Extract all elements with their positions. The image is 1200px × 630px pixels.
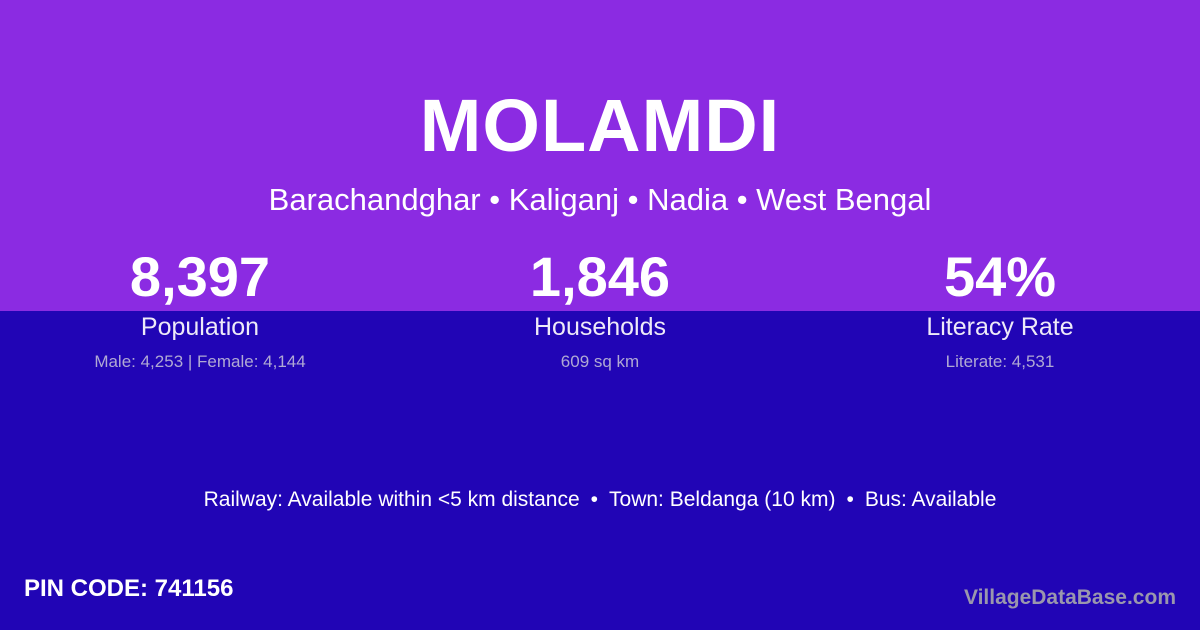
page-title: MOLAMDI	[0, 82, 1200, 170]
stat-value: 8,397	[0, 244, 400, 310]
brand-watermark: VillageDataBase.com	[964, 584, 1176, 612]
amenity-railway: Railway: Available within <5 km distance	[204, 488, 580, 511]
card-footer: PIN CODE: 741156 VillageDataBase.com	[0, 558, 1200, 630]
amenity-separator: •	[835, 485, 864, 515]
amenity-town: Town: Beldanga (10 km)	[609, 488, 835, 511]
breadcrumb: Barachandghar • Kaliganj • Nadia • West …	[0, 180, 1200, 220]
stat-value: 1,846	[400, 244, 800, 310]
pin-code: PIN CODE: 741156	[24, 574, 233, 604]
amenity-separator: •	[580, 485, 609, 515]
amenities-row: Railway: Available within <5 km distance…	[0, 485, 1200, 515]
stat-detail: Literate: 4,531	[800, 351, 1200, 373]
stat-label: Households	[400, 312, 800, 343]
stat-label: Literacy Rate	[800, 312, 1200, 343]
stat-literacy-rate: 54% Literacy Rate Literate: 4,531	[800, 244, 1200, 373]
stat-detail: Male: 4,253 | Female: 4,144	[0, 351, 400, 373]
stat-label: Population	[0, 312, 400, 343]
stat-households: 1,846 Households 609 sq km	[400, 244, 800, 373]
stat-population: 8,397 Population Male: 4,253 | Female: 4…	[0, 244, 400, 373]
stat-detail: 609 sq km	[400, 351, 800, 373]
stat-value: 54%	[800, 244, 1200, 310]
village-info-card: MOLAMDI Barachandghar • Kaliganj • Nadia…	[0, 0, 1200, 630]
stats-row: 8,397 Population Male: 4,253 | Female: 4…	[0, 244, 1200, 373]
amenity-bus: Bus: Available	[865, 488, 997, 511]
